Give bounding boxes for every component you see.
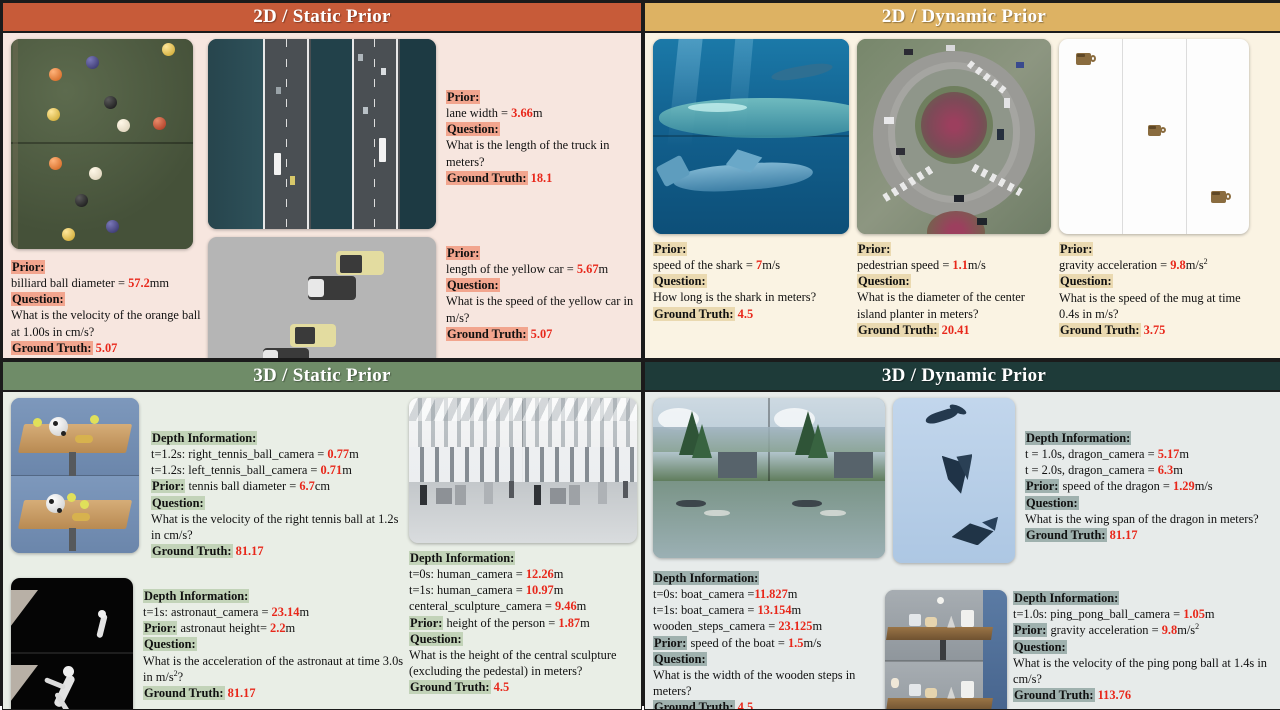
prior-value: 1.1 (952, 258, 968, 272)
prior-unit-exponent: 2 (1204, 257, 1208, 266)
prior-value: 1.5 (788, 636, 804, 650)
question-label: Question: (1025, 496, 1079, 510)
prior-label: Prior: (653, 636, 687, 650)
question-text: What is the width of the wooden steps in… (653, 667, 885, 699)
depth-information-label: Depth Information: (143, 589, 249, 603)
ground-truth-label: Ground Truth: (11, 341, 93, 355)
prior-value: 2.2 (270, 621, 286, 635)
ground-truth-label: Ground Truth: (409, 680, 491, 694)
qa-block-astronaut: Depth Information: t=1s: astronaut_camer… (143, 588, 405, 701)
top-down-cars-image (208, 237, 436, 358)
depth-line-text: t=1.0s: ping_pong_ball_camera = (1013, 607, 1183, 621)
prior-label: Prior: (143, 621, 177, 635)
aerial-highway-truck-image (208, 39, 436, 229)
depth-line-value: 11.827 (754, 587, 787, 601)
depth-line-unit: m (1173, 463, 1183, 477)
prior-text: pedestrian speed = (857, 258, 952, 272)
prior-label: Prior: (1013, 623, 1047, 637)
depth-line-value: 13.154 (757, 603, 791, 617)
prior-unit: m (286, 621, 296, 635)
depth-line-value: 5.17 (1158, 447, 1180, 461)
depth-information-label: Depth Information: (1013, 591, 1119, 605)
depth-line-text: t=0s: human_camera = (409, 567, 526, 581)
astronaut-space-sequence-image (11, 578, 133, 709)
question-label: Question: (446, 122, 500, 136)
question-label: Question: (11, 292, 65, 306)
ground-truth-label: Ground Truth: (1013, 688, 1095, 702)
ground-truth-value: 81.17 (228, 686, 256, 700)
prior-value: 9.8 (1170, 258, 1186, 272)
quadrant-header-3d-static: 3D / Static Prior (3, 362, 641, 392)
qa-block-shark: Prior: speed of the shark = 7m/s Questio… (653, 241, 853, 322)
prior-label: Prior: (446, 90, 480, 104)
depth-line-text: wooden_steps_camera = (653, 619, 778, 633)
prior-value: 1.29 (1173, 479, 1195, 493)
qa-block-yellow-car: Prior: length of the yellow car = 5.67m … (446, 245, 639, 342)
depth-information-label: Depth Information: (1025, 431, 1131, 445)
prior-label: Prior: (857, 242, 891, 256)
depth-line-value: 9.46 (555, 599, 577, 613)
question-label: Question: (151, 496, 205, 510)
prior-value: 5.67 (577, 262, 599, 276)
falling-mug-sequence-image (1059, 39, 1249, 234)
depth-line-value: 23.125 (778, 619, 812, 633)
question-label: Question: (409, 632, 463, 646)
depth-line-text: t=1s: astronaut_camera = (143, 605, 272, 619)
prior-text: speed of the boat = (690, 636, 787, 650)
question-label: Question: (1013, 640, 1067, 654)
prior-value: 6.7 (299, 479, 315, 493)
question-label: Question: (143, 637, 197, 651)
quadrant-header-2d-dynamic: 2D / Dynamic Prior (645, 3, 1280, 33)
prior-label: Prior: (409, 616, 443, 630)
prior-text: length of the yellow car = (446, 262, 577, 276)
ground-truth-label: Ground Truth: (151, 544, 233, 558)
question-text: What is the velocity of the right tennis… (151, 511, 401, 543)
question-text: What is the length of the truck in meter… (446, 137, 636, 169)
qa-block-highway-truck: Prior: lane width = 3.66m Question: What… (446, 89, 636, 186)
question-text: How long is the shark in meters? (653, 289, 853, 305)
prior-text: gravity acceleration = (1059, 258, 1170, 272)
depth-line-unit: m (1179, 447, 1189, 461)
ping-pong-table-sequence-image (885, 590, 1007, 709)
ground-truth-label: Ground Truth: (1025, 528, 1107, 542)
depth-line-unit: m (349, 447, 359, 461)
prior-unit: m (533, 106, 543, 120)
question-label: Question: (653, 274, 707, 288)
question-label: Question: (1059, 274, 1113, 288)
depth-line-text: t = 2.0s, dragon_camera = (1025, 463, 1158, 477)
museum-interior-stereo-image (409, 398, 637, 543)
four-quadrant-figure: 2D / Static Prior (0, 0, 1280, 706)
prior-unit: m/s (1177, 623, 1195, 637)
billiard-table-sequence-image (11, 39, 193, 249)
depth-line-unit: m (577, 599, 587, 613)
mug-icon (1148, 125, 1161, 136)
depth-line-unit: m (1205, 607, 1215, 621)
prior-unit: m/s (1186, 258, 1204, 272)
prior-label: Prior: (151, 479, 185, 493)
quadrant-body-2d-dynamic: Prior: speed of the shark = 7m/s Questio… (645, 33, 1280, 358)
qa-block-roundabout: Prior: pedestrian speed = 1.1m/s Questio… (857, 241, 1055, 338)
prior-label: Prior: (446, 246, 480, 260)
underwater-shark-sequence-image (653, 39, 849, 234)
depth-line-value: 0.71 (321, 463, 343, 477)
ground-truth-label: Ground Truth: (446, 327, 528, 341)
prior-text: speed of the shark = (653, 258, 756, 272)
question-text: What is the speed of the mug at time 0.4… (1059, 290, 1259, 322)
depth-line-value: 23.14 (272, 605, 300, 619)
prior-unit: m/s (1195, 479, 1213, 493)
prior-label: Prior: (653, 242, 687, 256)
ground-truth-value: 4.5 (738, 700, 754, 709)
prior-unit-exponent: 2 (1195, 622, 1199, 631)
qa-block-mug: Prior: gravity acceleration = 9.8m/s2 Qu… (1059, 241, 1259, 338)
question-tail: ? (178, 670, 184, 684)
qa-block-tennis-ball: Depth Information: t=1.2s: right_tennis_… (151, 430, 401, 559)
prior-text: tennis ball diameter = (188, 479, 299, 493)
prior-text: lane width = (446, 106, 511, 120)
quadrant-body-2d-static: Prior: lane width = 3.66m Question: What… (3, 33, 641, 358)
prior-text: gravity acceleration = (1050, 623, 1161, 637)
ground-truth-label: Ground Truth: (857, 323, 939, 337)
ground-truth-value: 81.17 (236, 544, 264, 558)
depth-line-unit: m (788, 587, 798, 601)
quadrant-body-3d-dynamic: Depth Information: t = 1.0s, dragon_came… (645, 392, 1280, 709)
qa-block-dragon: Depth Information: t = 1.0s, dragon_came… (1025, 430, 1275, 543)
depth-line-text: t=0s: boat_camera = (653, 587, 754, 601)
depth-line-text: centeral_sculpture_camera = (409, 599, 555, 613)
prior-text: height of the person = (446, 616, 558, 630)
depth-line-text: t=1s: human_camera = (409, 583, 526, 597)
ground-truth-value: 113.76 (1098, 688, 1131, 702)
prior-label: Prior: (11, 260, 45, 274)
quadrant-header-3d-dynamic: 3D / Dynamic Prior (645, 362, 1280, 392)
ground-truth-value: 4.5 (494, 680, 510, 694)
prior-value: 3.66 (511, 106, 533, 120)
quadrant-2d-dynamic-prior: 2D / Dynamic Prior (644, 2, 1280, 359)
prior-unit: m (599, 262, 609, 276)
depth-line-text: t=1s: boat_camera = (653, 603, 757, 617)
prior-value: 1.87 (558, 616, 580, 630)
ground-truth-value: 18.1 (531, 171, 553, 185)
depth-line-unit: m (792, 603, 802, 617)
qa-block-ping-pong: Depth Information: t=1.0s: ping_pong_bal… (1013, 590, 1275, 703)
question-text: What is the speed of the yellow car in m… (446, 293, 639, 325)
ground-truth-value: 20.41 (942, 323, 970, 337)
ground-truth-label: Ground Truth: (1059, 323, 1141, 337)
depth-line-value: 12.26 (526, 567, 554, 581)
mug-icon (1211, 191, 1226, 203)
quadrant-body-3d-static: Depth Information: t=1.2s: right_tennis_… (3, 392, 641, 709)
lake-cabin-boat-stereo-image (653, 398, 885, 558)
depth-line-text: t = 1.0s, dragon_camera = (1025, 447, 1158, 461)
question-text: What is the diameter of the center islan… (857, 289, 1055, 321)
prior-unit: m (580, 616, 590, 630)
qa-block-boat: Depth Information: t=0s: boat_camera =11… (653, 570, 885, 709)
ground-truth-label: Ground Truth: (446, 171, 528, 185)
question-label: Question: (857, 274, 911, 288)
depth-line-unit: m (342, 463, 352, 477)
ground-truth-value: 5.07 (96, 341, 118, 355)
prior-unit: m/s (968, 258, 986, 272)
ground-truth-value: 3.75 (1144, 323, 1166, 337)
depth-line-value: 6.3 (1158, 463, 1174, 477)
aerial-roundabout-image (857, 39, 1051, 234)
flying-dragons-image (893, 398, 1015, 563)
prior-label: Prior: (1025, 479, 1059, 493)
prior-unit: mm (150, 276, 169, 290)
quadrant-2d-static-prior: 2D / Static Prior (2, 2, 642, 359)
depth-line-value: 10.97 (526, 583, 554, 597)
prior-label: Prior: (1059, 242, 1093, 256)
depth-line-text: t=1.2s: left_tennis_ball_camera = (151, 463, 321, 477)
prior-value: 9.8 (1162, 623, 1178, 637)
prior-unit: m/s (803, 636, 821, 650)
question-text: What is the wing span of the dragon in m… (1025, 511, 1275, 527)
qa-block-billiard: Prior: billiard ball diameter = 57.2mm Q… (11, 259, 207, 356)
tennis-ball-table-sequence-image (11, 398, 139, 553)
depth-information-label: Depth Information: (409, 551, 515, 565)
depth-line-unit: m (554, 583, 564, 597)
question-text: What is the height of the central sculpt… (409, 647, 641, 679)
depth-information-label: Depth Information: (653, 571, 759, 585)
prior-unit: cm (315, 479, 330, 493)
mug-icon (1076, 53, 1091, 65)
question-text: What is the velocity of the orange ball … (11, 307, 207, 339)
quadrant-3d-static-prior: 3D / Static Prior (2, 361, 642, 710)
prior-text: speed of the dragon = (1062, 479, 1173, 493)
quadrant-header-2d-static: 2D / Static Prior (3, 3, 641, 33)
depth-line-text: t=1.2s: right_tennis_ball_camera = (151, 447, 327, 461)
ground-truth-label: Ground Truth: (143, 686, 225, 700)
ground-truth-value: 81.17 (1110, 528, 1138, 542)
quadrant-3d-dynamic-prior: 3D / Dynamic Prior (644, 361, 1280, 710)
ground-truth-label: Ground Truth: (653, 307, 735, 321)
prior-text: astronaut height= (180, 621, 270, 635)
depth-line-value: 0.77 (327, 447, 349, 461)
prior-unit: m/s (762, 258, 780, 272)
prior-value: 57.2 (128, 276, 150, 290)
ground-truth-value: 4.5 (738, 307, 754, 321)
question-text: What is the velocity of the ping pong ba… (1013, 655, 1275, 687)
depth-line-unit: m (299, 605, 309, 619)
depth-line-unit: m (812, 619, 822, 633)
depth-line-value: 1.05 (1183, 607, 1205, 621)
ground-truth-value: 5.07 (531, 327, 553, 341)
ground-truth-label: Ground Truth: (653, 700, 735, 709)
question-label: Question: (446, 278, 500, 292)
depth-line-unit: m (554, 567, 564, 581)
depth-information-label: Depth Information: (151, 431, 257, 445)
prior-text: billiard ball diameter = (11, 276, 128, 290)
question-label: Question: (653, 652, 707, 666)
qa-block-museum-sculpture: Depth Information: t=0s: human_camera = … (409, 550, 641, 695)
